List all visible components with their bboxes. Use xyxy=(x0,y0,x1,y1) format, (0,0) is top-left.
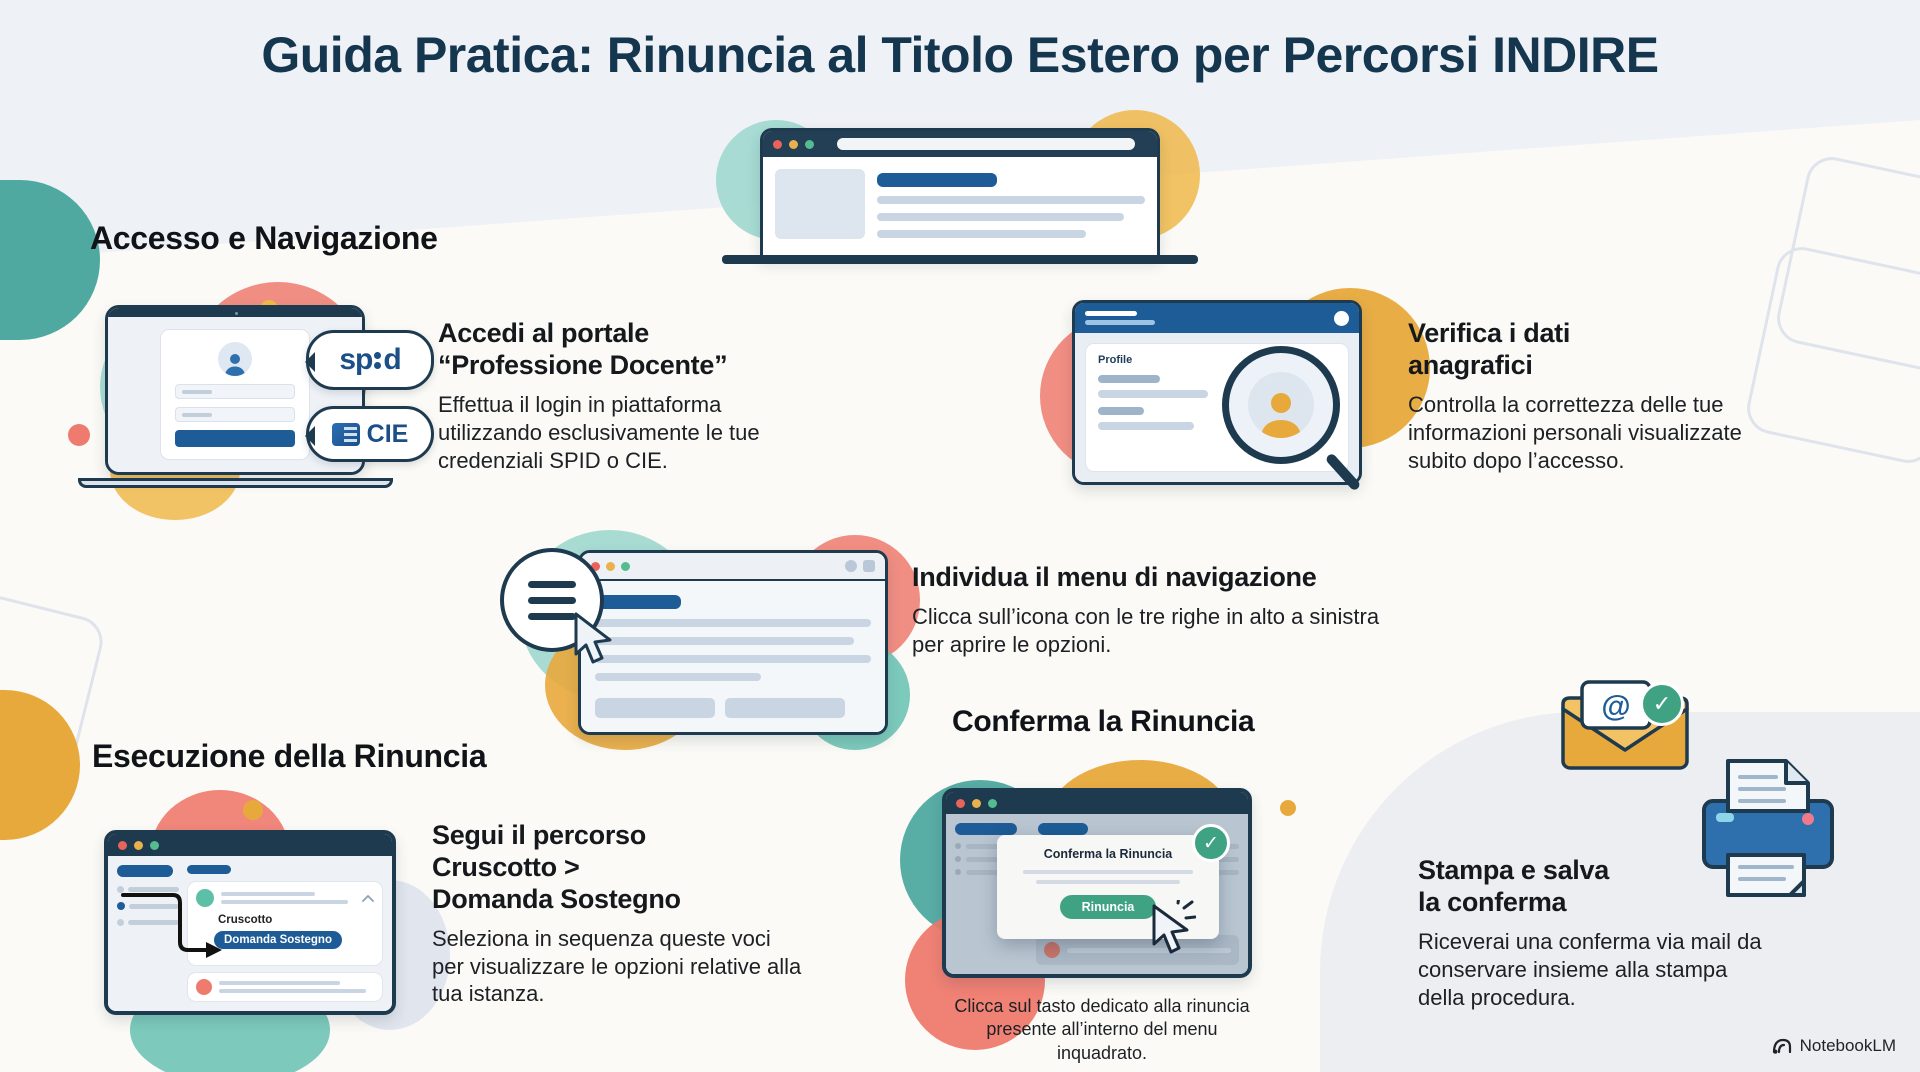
page-title: Guida Pratica: Rinuncia al Titolo Estero… xyxy=(0,26,1920,84)
profile-field-bar xyxy=(1098,390,1208,398)
step-text-menu-navigazione: Individua il menu di navigazione Clicca … xyxy=(912,562,1412,659)
hero-window-titlebar xyxy=(763,131,1157,157)
window-dot-green xyxy=(150,841,159,850)
profile-field-bar xyxy=(1098,422,1194,430)
step-title: Stampa e salva la conferma xyxy=(1418,855,1768,919)
cruscotto-collapsed-card[interactable] xyxy=(187,972,383,1002)
decor-blob-s4-dot xyxy=(243,800,263,820)
cie-logo-text: CIE xyxy=(367,420,409,449)
window-dot-green xyxy=(621,562,630,571)
window-dot-yellow xyxy=(134,841,143,850)
notebooklm-watermark-label: NotebookLM xyxy=(1800,1036,1896,1056)
profile-field-bar xyxy=(1098,407,1144,415)
login-input-username[interactable] xyxy=(175,384,295,399)
menu-text-bar xyxy=(595,673,761,681)
step-title: Verifica i dati anagrafici xyxy=(1408,318,1788,382)
menu-text-bar xyxy=(595,619,871,627)
window-dot-yellow xyxy=(972,799,981,808)
window-dot-yellow xyxy=(789,140,798,149)
step-body: Clicca sull’icona con le tre righe in al… xyxy=(912,603,1412,659)
laptop-camera-strip xyxy=(108,308,362,317)
mail-success-check-icon: ✓ xyxy=(1640,682,1684,726)
hero-text-bar xyxy=(877,230,1086,238)
window-menu-icon xyxy=(863,560,875,572)
hero-thumbnail-block xyxy=(775,169,865,239)
menu-heading-bar xyxy=(595,595,681,609)
notebooklm-watermark: NotebookLM xyxy=(1772,1036,1896,1056)
conferma-dialog-heading: Conferma la Rinuncia xyxy=(1044,847,1173,861)
cursor-click-icon xyxy=(1148,900,1196,961)
infographic-page: Guida Pratica: Rinuncia al Titolo Estero… xyxy=(0,0,1920,1072)
step-title: Individua il menu di navigazione xyxy=(912,562,1412,594)
step-caption-conferma-rinuncia: Clicca sul tasto dedicato alla rinuncia … xyxy=(952,995,1252,1065)
chevron-up-icon[interactable] xyxy=(362,894,374,902)
step-body: Riceverai una conferma via mail da conse… xyxy=(1418,928,1768,1012)
step-text-accedi-portale: Accedi al portale “Professione Docente” … xyxy=(438,318,813,475)
cursor-pointer-icon xyxy=(572,612,618,671)
notebooklm-logo-icon xyxy=(1772,1037,1792,1055)
cie-badge-bubble: CIE xyxy=(306,406,434,462)
spid-badge-bubble: sp d xyxy=(306,330,434,390)
hero-address-bar xyxy=(837,138,1135,150)
dialog-success-check-icon: ✓ xyxy=(1192,824,1230,862)
menu-window-mockup xyxy=(578,550,888,735)
decor-blob-s1-dot xyxy=(68,424,90,446)
rinuncia-button[interactable]: Rinuncia xyxy=(1060,895,1157,919)
cruscotto-window-titlebar xyxy=(108,834,392,856)
step-title: Segui il percorso Cruscotto > Domanda So… xyxy=(432,820,802,916)
magnifier-icon xyxy=(1222,346,1340,464)
step-text-verifica-dati: Verifica i dati anagrafici Controlla la … xyxy=(1408,318,1788,475)
menu-window-titlebar xyxy=(581,553,885,581)
step-body: Effettua il login in piattaforma utilizz… xyxy=(438,391,813,475)
hero-laptop-mockup xyxy=(760,128,1160,258)
at-symbol-glyph: @ xyxy=(1601,690,1630,723)
window-dot-green xyxy=(805,140,814,149)
window-dot-yellow xyxy=(606,562,615,571)
path-arrow-indicator xyxy=(118,880,328,970)
decor-blob-s5-dot xyxy=(1280,800,1296,816)
hero-text-bar xyxy=(877,213,1124,221)
conferma-bg-heading xyxy=(955,823,1017,835)
conferma-bg-row xyxy=(1036,935,1239,965)
window-dot-red xyxy=(956,799,965,808)
section-header-esecuzione: Esecuzione della Rinuncia xyxy=(92,738,486,775)
hero-text-bar xyxy=(877,196,1145,204)
step-heading-conferma-rinuncia: Conferma la Rinuncia xyxy=(952,705,1254,739)
window-dot-red xyxy=(118,841,127,850)
window-dot-green xyxy=(988,799,997,808)
conferma-window-titlebar xyxy=(946,792,1248,814)
step-title: Accedi al portale “Professione Docente” xyxy=(438,318,813,382)
hero-laptop-base xyxy=(722,255,1198,264)
step-text-segui-percorso: Segui il percorso Cruscotto > Domanda So… xyxy=(432,820,802,1008)
conferma-bg-tab xyxy=(1038,823,1088,835)
spid-dots-icon xyxy=(374,352,381,369)
profile-field-bar xyxy=(1098,375,1160,383)
step-text-stampa-salva: Stampa e salva la conferma Riceverai una… xyxy=(1418,855,1768,1012)
menu-text-bar xyxy=(595,637,854,645)
sidebar-active-item[interactable] xyxy=(117,865,173,877)
login-input-password[interactable] xyxy=(175,407,295,422)
cie-card-icon xyxy=(332,423,360,446)
window-dot-red xyxy=(773,140,782,149)
login-laptop-base xyxy=(78,478,393,488)
menu-footer-block xyxy=(725,698,845,718)
step-body: Seleziona in sequenza queste voci per vi… xyxy=(432,925,802,1009)
spid-logo-text: sp d xyxy=(339,343,400,377)
login-card xyxy=(160,329,310,460)
panel-heading-bar xyxy=(187,865,231,874)
section-header-accesso: Accesso e Navigazione xyxy=(90,220,438,257)
profile-window-titlebar xyxy=(1075,303,1359,333)
login-submit-button[interactable] xyxy=(175,430,295,447)
menu-text-bar xyxy=(595,655,871,663)
card-avatar-coral xyxy=(196,979,212,995)
step-body: Controlla la correttezza delle tue infor… xyxy=(1408,391,1788,475)
window-user-icon xyxy=(845,560,857,572)
hero-heading-bar xyxy=(877,173,997,187)
profile-window-avatar-dot xyxy=(1334,311,1349,326)
menu-footer-block xyxy=(595,698,715,718)
user-avatar-icon xyxy=(218,342,252,376)
